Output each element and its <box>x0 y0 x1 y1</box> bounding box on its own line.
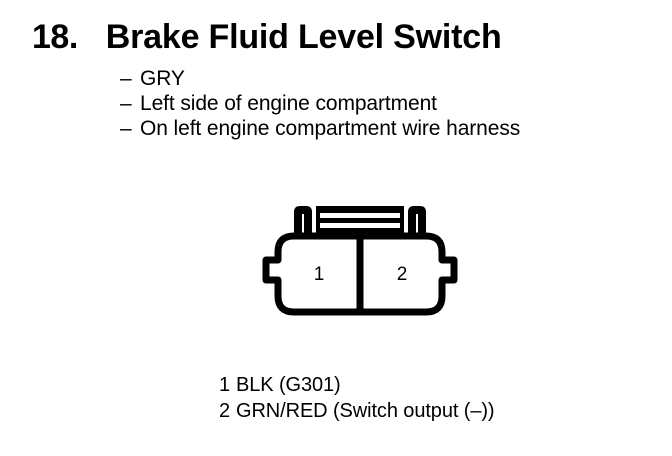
legend-pin-number: 2 <box>219 398 236 424</box>
legend-pin-label: GRN/RED (Switch output (–)) <box>236 398 494 424</box>
list-item-label: GRY <box>140 66 185 91</box>
detail-list: – GRY – Left side of engine compartment … <box>120 66 520 141</box>
dash-icon: – <box>120 66 140 91</box>
pin-cavity-1-number: 1 <box>314 264 325 285</box>
legend-pin-label: BLK (G301) <box>236 372 341 398</box>
connector-diagram: 1 2 <box>262 198 472 323</box>
page-heading: 18. Brake Fluid Level Switch <box>32 18 502 57</box>
list-item-label: On left engine compartment wire harness <box>140 116 520 141</box>
pin-legend: 1 BLK (G301) 2 GRN/RED (Switch output (–… <box>219 372 494 424</box>
list-item: – Left side of engine compartment <box>120 91 520 116</box>
dash-icon: – <box>120 116 140 141</box>
list-item: – On left engine compartment wire harnes… <box>120 116 520 141</box>
legend-pin-number: 1 <box>219 372 236 398</box>
page-title: Brake Fluid Level Switch <box>106 18 502 57</box>
list-item-label: Left side of engine compartment <box>140 91 437 116</box>
dash-icon: – <box>120 91 140 116</box>
heading-number: 18. <box>32 18 78 57</box>
list-item: – GRY <box>120 66 520 91</box>
legend-row: 1 BLK (G301) <box>219 372 494 398</box>
legend-row: 2 GRN/RED (Switch output (–)) <box>219 398 494 424</box>
pin-cavity-2-number: 2 <box>397 264 408 285</box>
